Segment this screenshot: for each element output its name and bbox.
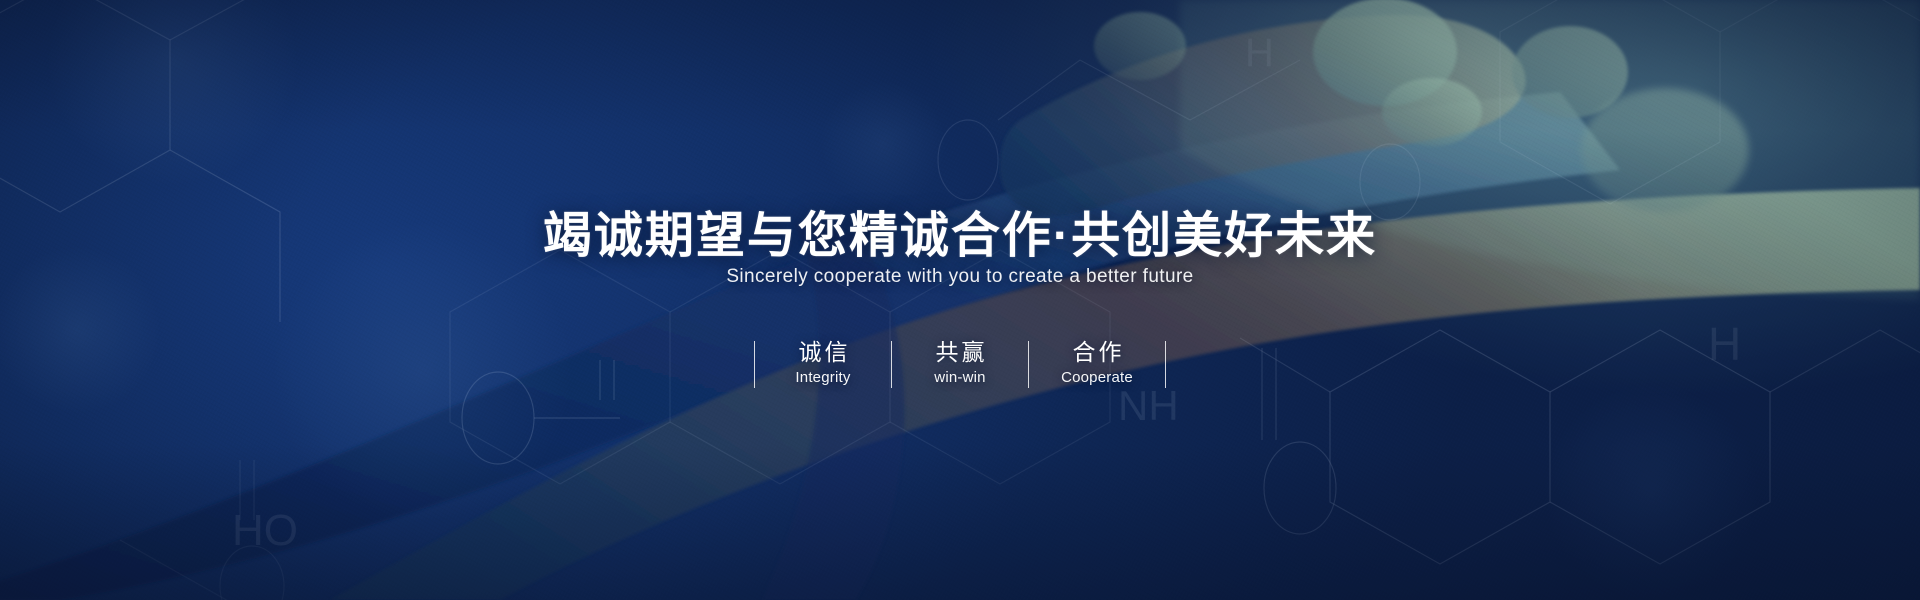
pillar-integrity: 诚信 Integrity bbox=[755, 336, 891, 392]
banner-content: 竭诚期望与您精诚合作·共创美好未来 Sincerely cooperate wi… bbox=[0, 0, 1920, 600]
value-pillars: 诚信 Integrity 共赢 win-win 合作 Cooperate bbox=[754, 336, 1166, 392]
subtitle: Sincerely cooperate with you to create a… bbox=[726, 266, 1193, 288]
hero-banner: HO NH H H bbox=[0, 0, 1920, 600]
pillar-winwin: 共赢 win-win bbox=[892, 336, 1028, 392]
page-title: 竭诚期望与您精诚合作·共创美好未来 bbox=[543, 196, 1377, 267]
pillar-cooperate-label-en: Cooperate bbox=[1061, 368, 1133, 388]
pillar-cooperate-label-cn: 合作 bbox=[1070, 339, 1125, 366]
pillar-integrity-label-en: Integrity bbox=[795, 368, 850, 388]
pillar-winwin-label-cn: 共赢 bbox=[933, 339, 988, 366]
pillar-winwin-label-en: win-win bbox=[934, 368, 985, 388]
pillar-integrity-label-cn: 诚信 bbox=[796, 339, 851, 366]
pillar-divider-4 bbox=[1165, 341, 1166, 388]
pillar-cooperate: 合作 Cooperate bbox=[1029, 336, 1165, 392]
